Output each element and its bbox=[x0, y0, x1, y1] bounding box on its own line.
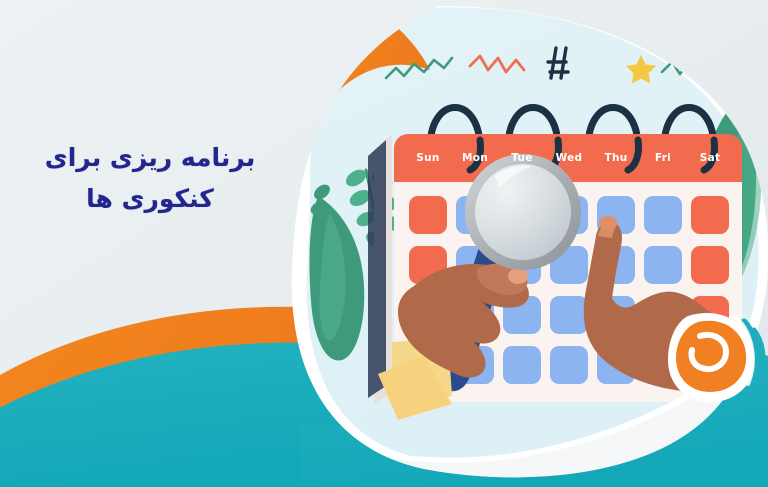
banner-artwork bbox=[0, 0, 768, 487]
headline-line-1: برنامه ریزی برای bbox=[0, 138, 300, 179]
brand-logo bbox=[668, 313, 763, 402]
page-title: برنامه ریزی برای کنکوری ها bbox=[0, 138, 300, 219]
fingertip bbox=[599, 216, 617, 230]
magnifier bbox=[465, 154, 581, 270]
day-header-thu: Thu bbox=[597, 152, 635, 164]
logo-mark bbox=[676, 321, 746, 392]
day-header-wed: Wed bbox=[550, 152, 588, 164]
day-header-sat: Sat bbox=[691, 152, 729, 164]
banner-root: Sun Mon Tue Wed Thu Fri Sat برنامه ریزی … bbox=[0, 0, 768, 487]
magnifier-lens bbox=[475, 164, 571, 260]
calendar-spine bbox=[368, 140, 386, 398]
day-header-sun: Sun bbox=[409, 152, 447, 164]
day-header-mon: Mon bbox=[456, 152, 494, 164]
day-header-tue: Tue bbox=[503, 152, 541, 164]
thumb-tip bbox=[508, 268, 528, 284]
day-header-fri: Fri bbox=[644, 152, 682, 164]
headline-line-2: کنکوری ها bbox=[0, 179, 300, 220]
